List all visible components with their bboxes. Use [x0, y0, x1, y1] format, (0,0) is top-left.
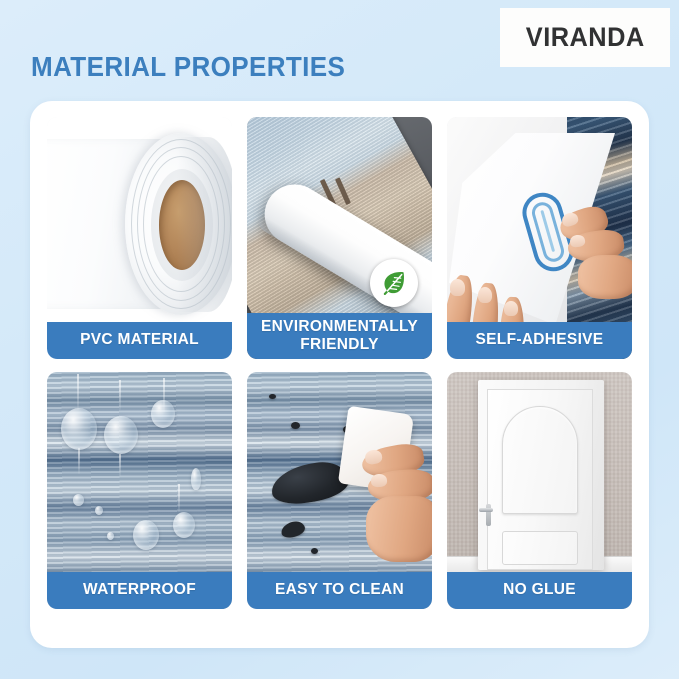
feature-cell-self-adhesive[interactable]: SELF-ADHESIVE [447, 117, 632, 359]
feature-label-line2: FRIENDLY [300, 336, 378, 353]
feature-cell-easy-to-clean[interactable]: EASY TO CLEAN [247, 372, 432, 609]
stain-dot-4 [311, 548, 318, 554]
feature-cell-no-glue[interactable]: NO GLUE [447, 372, 632, 609]
feature-label-waterproof: WATERPROOF [47, 572, 232, 609]
stain-dot-2 [291, 422, 300, 429]
door-leaf [487, 389, 593, 570]
features-card: PVC MATERIAL [30, 101, 649, 648]
feature-label-self-adhesive: SELF-ADHESIVE [447, 322, 632, 359]
page-title: MATERIAL PROPERTIES [31, 51, 345, 83]
stain-dot-1 [269, 394, 276, 399]
feature-label-environmentally-friendly: ENVIRONMENTALLY FRIENDLY [247, 313, 432, 359]
feature-label-easy-to-clean: EASY TO CLEAN [247, 572, 432, 609]
hand-holding-cloth [346, 416, 432, 566]
door-handle-icon [481, 504, 497, 526]
hand-right [554, 209, 632, 301]
feature-cell-pvc-material[interactable]: PVC MATERIAL [47, 117, 232, 359]
brand-name: VIRANDA [526, 22, 645, 53]
feature-label-pvc-material: PVC MATERIAL [47, 322, 232, 359]
eco-badge [370, 259, 418, 307]
feature-label-no-glue: NO GLUE [447, 572, 632, 609]
feature-cell-waterproof[interactable]: WATERPROOF [47, 372, 232, 609]
feature-label-line1: ENVIRONMENTALLY [261, 318, 418, 335]
leaf-icon [379, 268, 409, 298]
feature-cell-environmentally-friendly[interactable]: ENVIRONMENTALLY FRIENDLY [247, 117, 432, 359]
features-grid: PVC MATERIAL [47, 117, 632, 609]
brand-logo-box: VIRANDA [500, 8, 670, 67]
door-frame [478, 380, 604, 570]
